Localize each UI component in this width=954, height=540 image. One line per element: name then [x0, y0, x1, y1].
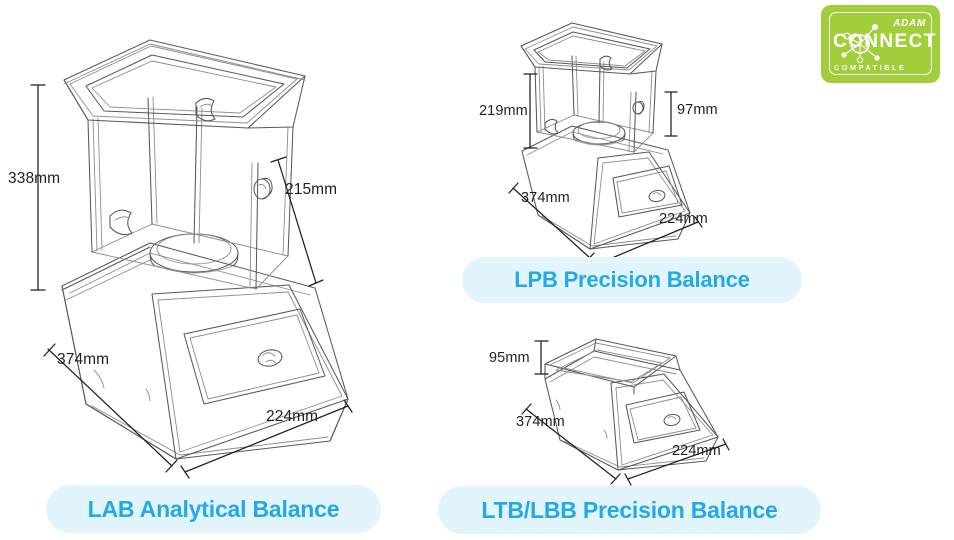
- product-label-lab: LAB Analytical Balance: [46, 485, 381, 533]
- badge-subtitle-text: COMPATIBLE: [834, 64, 906, 71]
- lab-dim-draft-shield-height: 215mm: [285, 182, 337, 198]
- product-label-lpb: LPB Precision Balance: [462, 257, 802, 303]
- product-label-lab-text: LAB Analytical Balance: [88, 496, 340, 523]
- product-label-ltb-lbb-text: LTB/LBB Precision Balance: [481, 497, 777, 524]
- badge-title-text: CONNECT: [833, 32, 937, 51]
- diagram-canvas: 338mm 215mm 374mm 224mm 219mm 97mm 374mm…: [0, 0, 954, 540]
- ltb-dim-width: 224mm: [672, 444, 721, 459]
- ltb-dim-depth: 374mm: [516, 415, 565, 430]
- lpb-dim-depth: 374mm: [521, 191, 570, 206]
- lpb-balance-drawing: [509, 23, 702, 268]
- lpb-dimension-lines: [509, 74, 702, 268]
- lpb-dim-draft-shield-height: 97mm: [677, 103, 718, 118]
- lab-draft-shield: [64, 40, 305, 289]
- ltb-weighing-platform: [545, 339, 680, 394]
- lpb-draft-shield: [521, 23, 662, 152]
- product-label-lpb-text: LPB Precision Balance: [514, 267, 749, 293]
- ltb-lbb-balance-drawing: [522, 339, 729, 485]
- adam-connect-compatible-badge: ADAM CONNECT COMPATIBLE: [821, 5, 940, 83]
- ltb-dim-height: 95mm: [489, 351, 530, 366]
- lpb-dim-width: 224mm: [659, 212, 708, 227]
- lab-dim-width: 224mm: [266, 409, 318, 425]
- product-label-ltb-lbb: LTB/LBB Precision Balance: [438, 486, 821, 534]
- lab-dim-height: 338mm: [8, 171, 60, 187]
- lpb-dim-height: 219mm: [479, 104, 528, 119]
- lab-dim-depth: 374mm: [57, 352, 109, 368]
- badge-brand-text: ADAM: [893, 19, 926, 29]
